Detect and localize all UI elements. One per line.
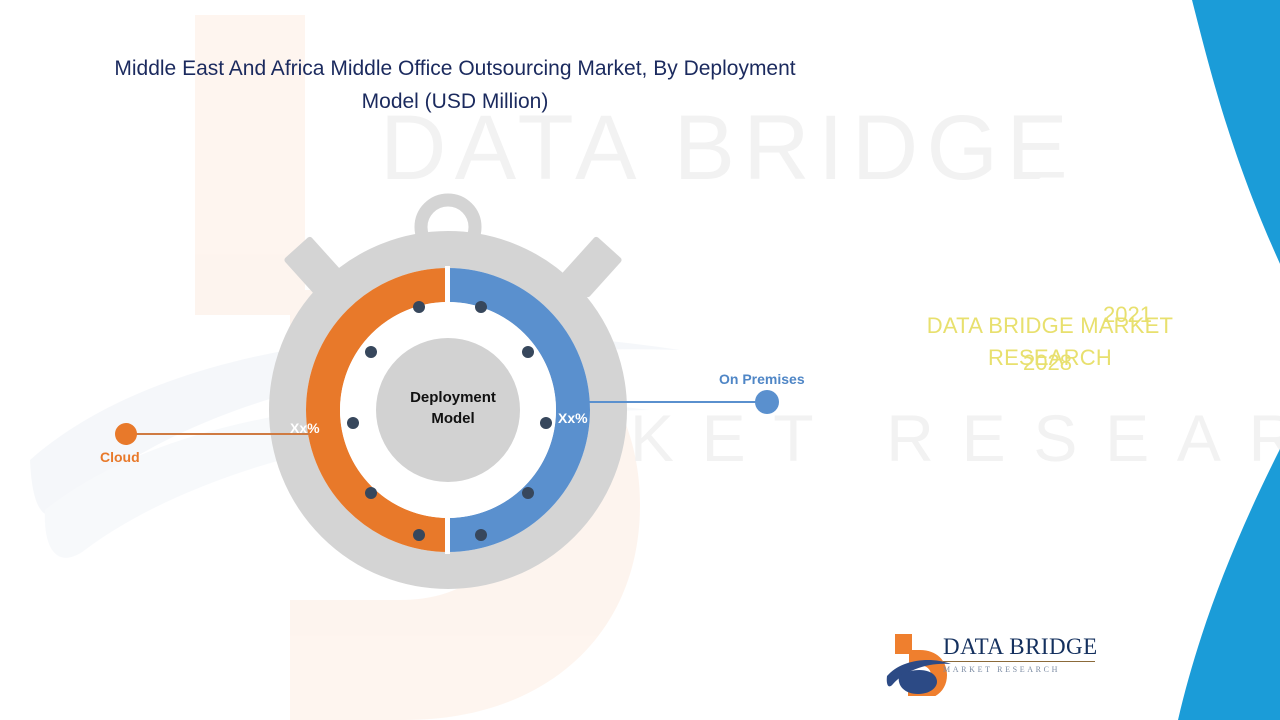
callout-label-on-premises: On Premises (719, 371, 805, 387)
callout-dot-on-premises (755, 390, 779, 414)
panel-brand-text: DATA BRIDGE MARKET RESEARCH (850, 310, 1250, 374)
hexagon-2028 (1012, 181, 1132, 285)
callout-label-cloud: Cloud (100, 449, 140, 465)
panel-title-line3: Market, 2021 to 2028 (961, 77, 1178, 103)
segment-value-cloud: Xx% (290, 420, 320, 436)
footer-logo-name: DATA BRIDGE (943, 634, 1103, 660)
center-label-line1: Deployment (410, 389, 496, 406)
blue-panel-content: Middle East And Africa Middle Office Out… (810, 0, 1280, 720)
panel-title: Middle East And Africa Middle Office Out… (870, 8, 1270, 107)
panel-title-line1: Middle East And Africa (955, 11, 1185, 37)
year-hexagons: 2021 2028 (890, 130, 1220, 290)
segment-value-on-premises: Xx% (558, 410, 588, 426)
footer-logo-subtitle: MARKET RESEARCH (943, 665, 1103, 674)
databridge-footer-logo: DATA BRIDGE MARKET RESEARCH (885, 630, 1100, 698)
donut-center-label: Deployment Model (373, 387, 533, 429)
footer-logo-rule (943, 661, 1095, 662)
hexagon-2021 (1102, 144, 1204, 232)
panel-brand-line1: DATA BRIDGE MARKET (927, 313, 1173, 338)
callout-dot-cloud (115, 423, 137, 445)
deployment-model-donut-chart: Deployment Model (258, 185, 648, 610)
panel-brand-line2: RESEARCH (988, 345, 1112, 370)
center-label-line2: Model (431, 410, 474, 427)
page-title: Middle East And Africa Middle Office Out… (110, 52, 800, 118)
panel-title-line2: Middle Office Outsourcing (938, 44, 1202, 70)
infographic-canvas: DATA BRIDGE MARKET RESEARCH Middle East … (0, 0, 1280, 720)
